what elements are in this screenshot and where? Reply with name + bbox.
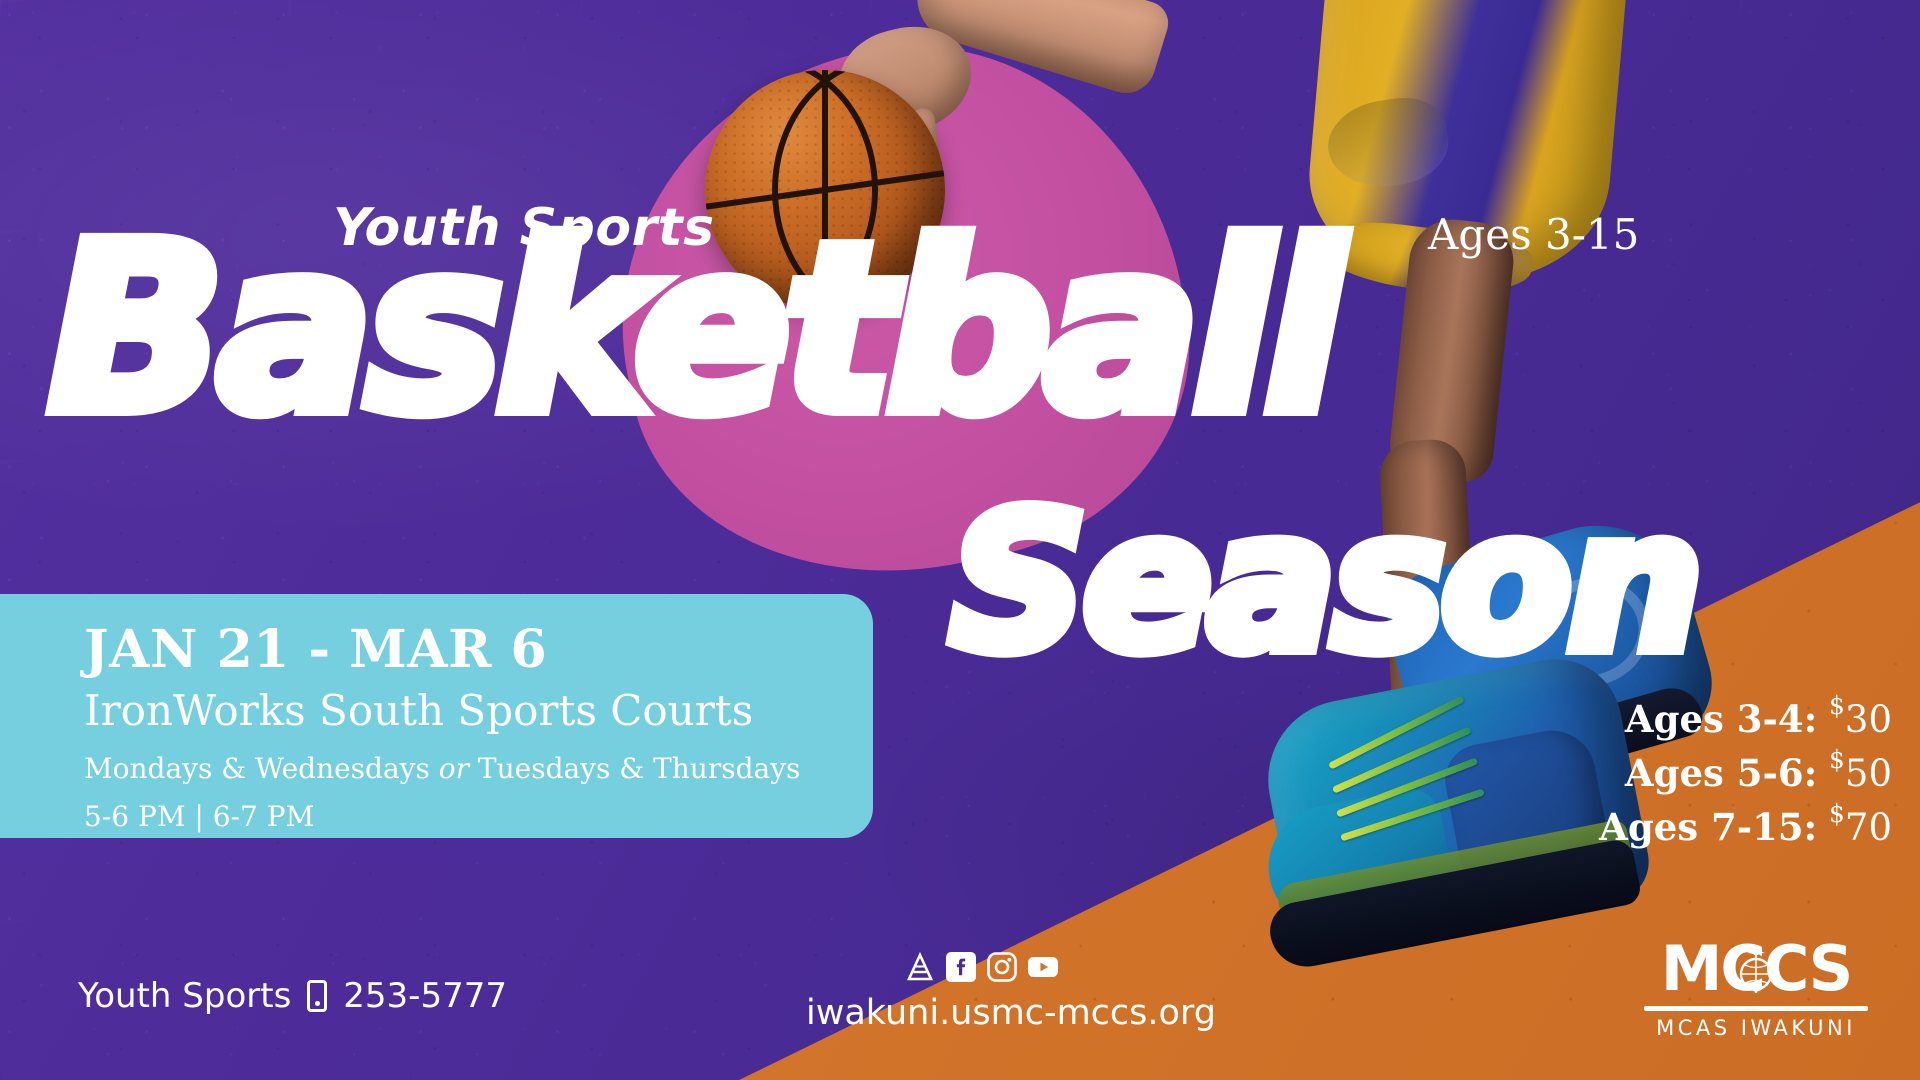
poster-canvas: Youth Sports Ages 3-15 Basketball Season… <box>0 0 1920 1080</box>
website-url[interactable]: iwakuni.usmc-mccs.org <box>806 993 1216 1033</box>
price-amount: $30 <box>1829 698 1892 741</box>
event-days: Mondays & Wednesdays or Tuesdays & Thurs… <box>84 749 873 790</box>
price-row: Ages 3-4: $30 <box>1599 690 1892 744</box>
price-label: Ages 7-15: <box>1599 805 1817 849</box>
age-range-label: Ages 3-15 <box>1428 210 1639 259</box>
price-row: Ages 7-15: $70 <box>1599 798 1892 852</box>
contact-department-label: Youth Sports <box>78 976 291 1016</box>
price-value: 30 <box>1845 698 1892 741</box>
mccs-triangle-a-icon[interactable] <box>905 952 935 982</box>
page-title-basketball: Basketball <box>48 213 1335 445</box>
event-times: 5-6 PM | 6-7 PM <box>84 797 873 838</box>
mccs-divider-rule <box>1644 1006 1868 1011</box>
price-value: 50 <box>1845 752 1892 795</box>
event-days-option-1: Mondays & Wednesdays <box>84 752 439 785</box>
event-dates: JAN 21 - MAR 6 <box>84 622 873 678</box>
price-label: Ages 3-4: <box>1625 697 1817 741</box>
event-details-card: JAN 21 - MAR 6 IronWorks South Sports Co… <box>0 594 873 838</box>
facebook-icon[interactable] <box>946 952 976 982</box>
phone-icon <box>307 980 327 1012</box>
instagram-icon[interactable] <box>987 952 1017 982</box>
mccs-installation-label: MCAS IWAKUNI <box>1644 1016 1868 1040</box>
price-label: Ages 5-6: <box>1625 751 1817 795</box>
currency-symbol: $ <box>1829 691 1845 720</box>
social-links <box>905 952 1058 982</box>
event-venue: IronWorks South Sports Courts <box>84 684 873 739</box>
pricing-list: Ages 3-4: $30 Ages 5-6: $50 Ages 7-15: $… <box>1599 690 1892 852</box>
mccs-logo: MCCS MCAS IWAKUNI <box>1644 940 1868 1040</box>
currency-symbol: $ <box>1829 745 1845 774</box>
youtube-icon[interactable] <box>1028 952 1058 982</box>
mccs-wordmark: MCCS <box>1644 940 1868 999</box>
event-days-option-2: Tuesdays & Thursdays <box>469 752 800 785</box>
contact-phone-number: 253-5777 <box>343 976 507 1016</box>
page-title-season: Season <box>950 488 1699 678</box>
price-amount: $50 <box>1829 752 1892 795</box>
price-value: 70 <box>1845 806 1892 849</box>
event-days-conjunction: or <box>439 752 469 785</box>
currency-symbol: $ <box>1829 799 1845 828</box>
price-row: Ages 5-6: $50 <box>1599 744 1892 798</box>
eagle-globe-anchor-icon <box>1725 938 1787 1000</box>
price-amount: $70 <box>1829 806 1892 849</box>
contact-phone-block: Youth Sports 253-5777 <box>78 976 507 1016</box>
